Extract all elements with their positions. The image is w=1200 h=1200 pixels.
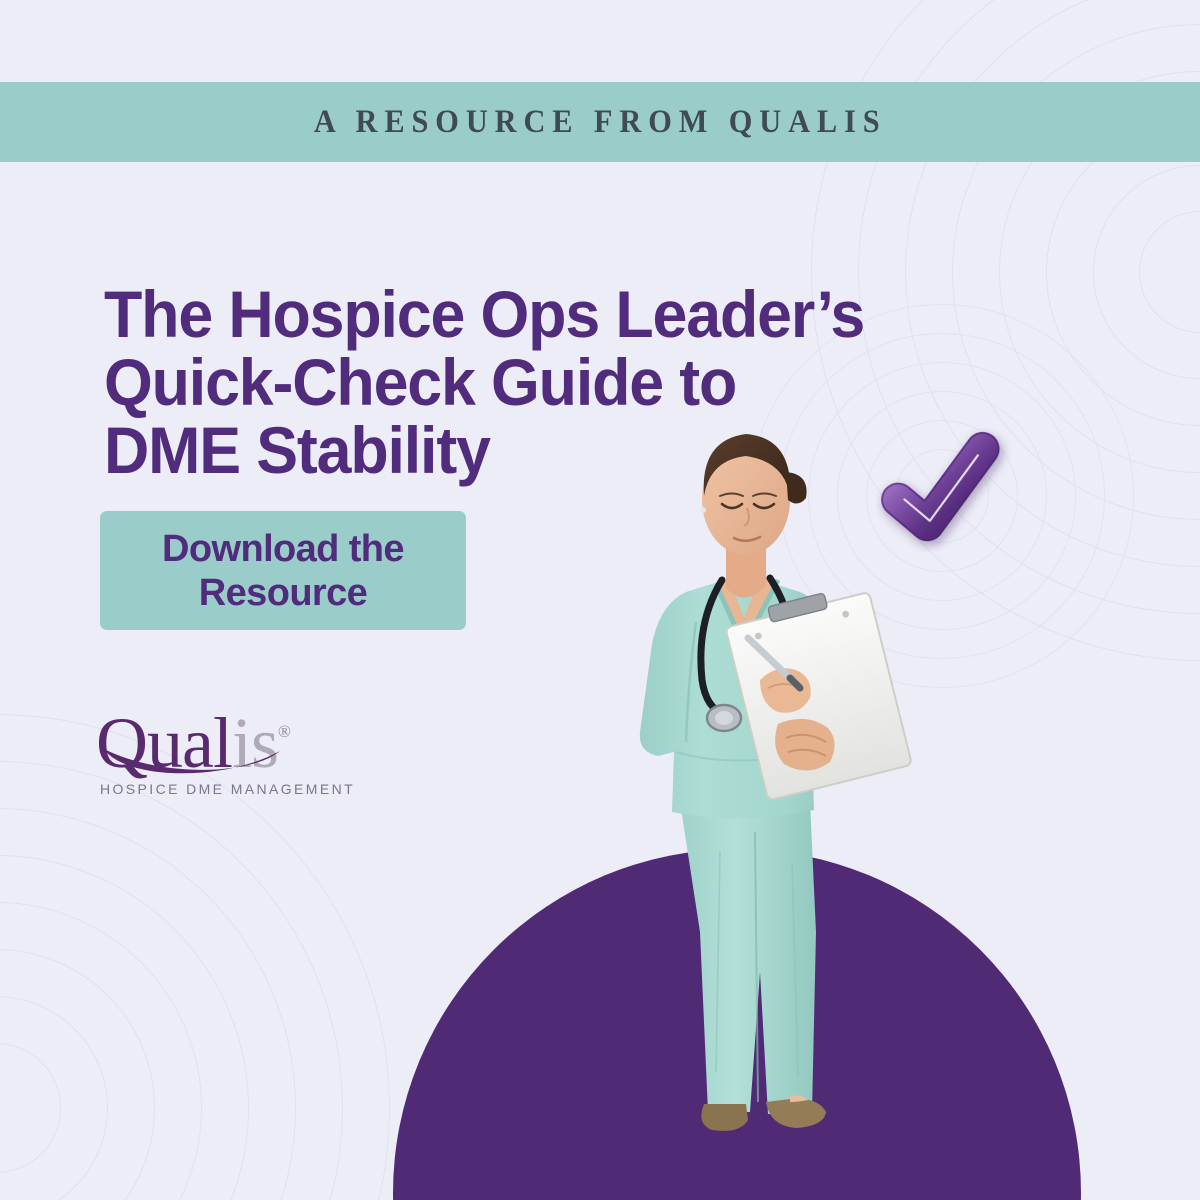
qualis-logo: Qualis® HOSPICE DME MANAGEMENT (96, 695, 336, 805)
registered-trademark-icon: ® (278, 722, 291, 741)
logo-wordmark: Qualis® (96, 695, 336, 780)
headline-line-2: Quick-Check Guide to (104, 348, 921, 416)
resource-promo-poster: A RESOURCE FROM QUALIS The Hospice Ops L… (0, 0, 1200, 1200)
download-resource-button[interactable]: Download the Resource (100, 511, 466, 630)
headline-line-1: The Hospice Ops Leader’s (104, 280, 921, 348)
banner-label: A RESOURCE FROM QUALIS (314, 104, 887, 141)
cta-label-line-1: Download the (162, 527, 404, 571)
banner-strip: A RESOURCE FROM QUALIS (0, 82, 1200, 162)
logo-tagline: HOSPICE DME MANAGEMENT (100, 781, 355, 797)
nurse-with-clipboard-photo (600, 412, 930, 1142)
logo-swash-icon (102, 745, 316, 777)
cta-label-line-2: Resource (199, 571, 367, 615)
